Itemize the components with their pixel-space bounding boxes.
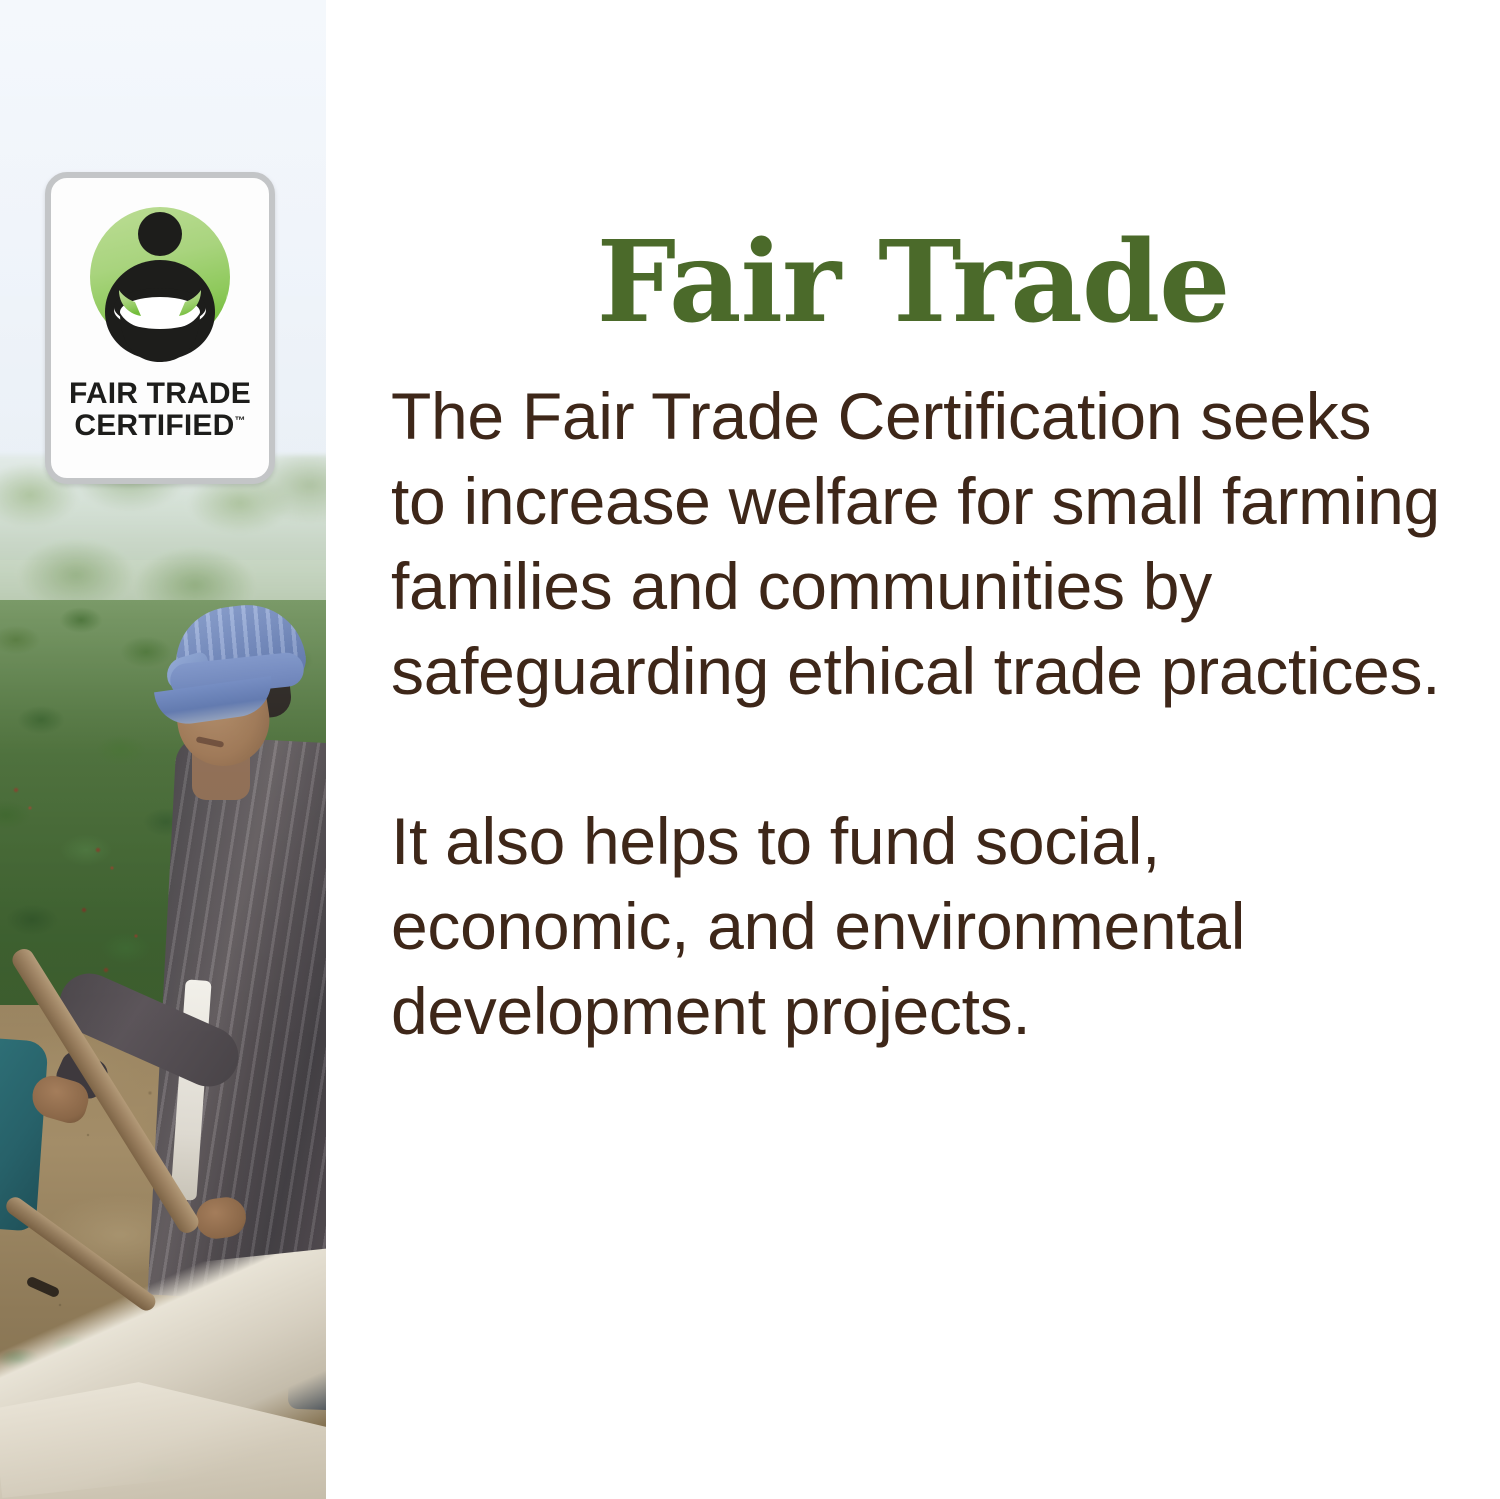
page-title: Fair Trade: [326, 227, 1500, 339]
paragraph-2: It also helps to fund social, economic, …: [391, 799, 1441, 1054]
badge-wordmark: FAIR TRADE CERTIFIED™: [51, 378, 269, 443]
fair-trade-certified-badge: FAIR TRADE CERTIFIED™: [45, 172, 275, 484]
body-copy: The Fair Trade Certification seeks to in…: [391, 374, 1441, 1054]
badge-line-1: FAIR TRADE: [51, 378, 269, 410]
infographic-page: FAIR TRADE CERTIFIED™ Fair Trade The Fai…: [0, 0, 1500, 1499]
photo-farmer: [150, 600, 326, 1360]
paragraph-1: The Fair Trade Certification seeks to in…: [391, 374, 1441, 714]
trademark-symbol: ™: [234, 415, 245, 427]
badge-line-2: CERTIFIED™: [51, 410, 269, 442]
content-column: Fair Trade The Fair Trade Certification …: [326, 0, 1500, 1499]
fair-trade-person-with-bowl-icon: [75, 194, 245, 364]
farmer-photo: FAIR TRADE CERTIFIED™: [0, 0, 326, 1499]
